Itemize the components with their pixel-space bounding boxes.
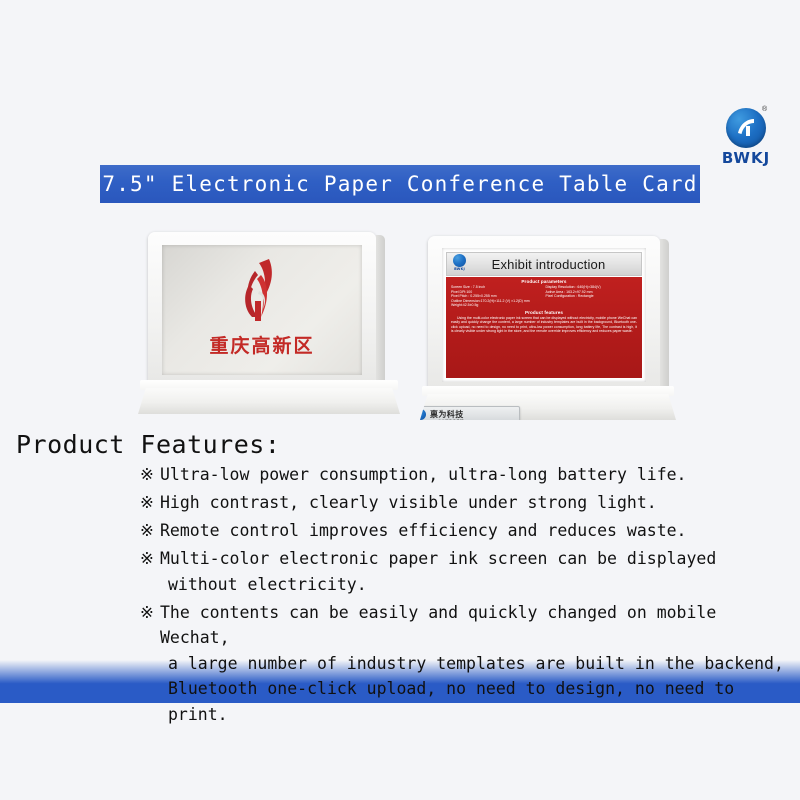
- device-left-caption: 重庆高新区: [162, 331, 362, 358]
- device-left: 重庆高新区: [138, 232, 400, 422]
- nameplate-text: 禀为科技 —7.5寸电子桌牌: [430, 410, 464, 424]
- feature-text: Remote control improves efficiency and r…: [160, 518, 790, 544]
- device-right-body: BWKJ Exhibit introduction Product parame…: [428, 236, 660, 394]
- product-features-list: ※ Ultra-low power consumption, ultra-lon…: [140, 462, 790, 730]
- base-front-face: BWKJ 禀为科技 —7.5寸电子桌牌: [420, 394, 676, 420]
- bullet-mark-icon: ※: [140, 600, 160, 728]
- features-paragraph: Using the multi-color electronic paper i…: [446, 315, 642, 334]
- chongqing-flame-logo-icon: [225, 257, 299, 329]
- registered-mark: ®: [762, 106, 767, 113]
- parameters-block: Screen Size : 7.5 inch Pixel DPI:100 Pix…: [446, 284, 642, 308]
- bwkj-logo-icon: ®: [726, 108, 766, 148]
- title-banner: 7.5" Electronic Paper Conference Table C…: [100, 165, 700, 203]
- feature-text: High contrast, clearly visible under str…: [160, 490, 790, 516]
- param-item: Weight:42.5±0.5g: [451, 303, 543, 308]
- brand-name: BWKJ: [703, 149, 789, 167]
- feature-item: ※ Multi-color electronic paper ink scree…: [140, 546, 790, 597]
- device-left-screen: 重庆高新区: [162, 245, 362, 375]
- bullet-mark-icon: ※: [140, 462, 160, 488]
- logo-text-small: BWKJ: [451, 267, 468, 271]
- device-left-base: [138, 380, 400, 418]
- bullet-mark-icon: ※: [140, 518, 160, 544]
- device-right-base: BWKJ 禀为科技 —7.5寸电子桌牌: [420, 386, 676, 426]
- bullet-mark-icon: ※: [140, 490, 160, 516]
- parameters-column-right: Display Resolution : 640(H)×384(V) Activ…: [543, 285, 638, 308]
- device-right: BWKJ Exhibit introduction Product parame…: [420, 236, 676, 426]
- bwkj-logo-icon-small: BWKJ: [451, 254, 468, 274]
- exhibit-red-panel: Product parameters Screen Size : 7.5 inc…: [446, 277, 642, 378]
- logo-circle-small: [453, 254, 466, 267]
- param-item: Pixel Configuration : Rectangle: [546, 294, 638, 299]
- exhibit-title: Exhibit introduction: [468, 257, 641, 272]
- device-left-body: 重庆高新区: [148, 232, 376, 387]
- logo-swoosh-icon: [734, 116, 758, 140]
- product-marketing-image: ® BWKJ 7.5" Electronic Paper Conference …: [0, 0, 800, 800]
- bullet-mark-icon: ※: [140, 546, 160, 597]
- nameplate: BWKJ 禀为科技 —7.5寸电子桌牌: [408, 406, 520, 428]
- features-text: Using the multi-color electronic paper i…: [451, 316, 637, 334]
- feature-item: ※ The contents can be easily and quickly…: [140, 600, 790, 728]
- nameplate-company: 禀为科技: [430, 410, 464, 419]
- nameplate-subtitle: —7.5寸电子桌牌: [430, 419, 464, 424]
- device-right-screen: BWKJ Exhibit introduction Product parame…: [442, 248, 646, 382]
- feature-text: Ultra-low power consumption, ultra-long …: [160, 462, 790, 488]
- feature-text-line: The contents can be easily and quickly c…: [160, 603, 716, 648]
- base-front-face: [138, 388, 400, 414]
- feature-text-block: The contents can be easily and quickly c…: [160, 600, 790, 728]
- feature-text-line: Bluetooth one-click upload, no need to d…: [160, 676, 790, 727]
- feature-text-block: Multi-color electronic paper ink screen …: [160, 546, 790, 597]
- feature-item: ※ High contrast, clearly visible under s…: [140, 490, 790, 516]
- feature-text-line: Multi-color electronic paper ink screen …: [160, 549, 716, 568]
- brand-logo: ® BWKJ: [703, 108, 789, 166]
- parameters-column-left: Screen Size : 7.5 inch Pixel DPI:100 Pix…: [451, 285, 543, 308]
- page-title: 7.5" Electronic Paper Conference Table C…: [102, 172, 697, 196]
- feature-item: ※ Remote control improves efficiency and…: [140, 518, 790, 544]
- exhibit-header: BWKJ Exhibit introduction: [446, 252, 642, 276]
- product-features-heading: Product Features:: [16, 430, 280, 459]
- feature-item: ※ Ultra-low power consumption, ultra-lon…: [140, 462, 790, 488]
- feature-text-line: a large number of industry templates are…: [160, 651, 790, 677]
- feature-text-line: without electricity.: [160, 572, 790, 598]
